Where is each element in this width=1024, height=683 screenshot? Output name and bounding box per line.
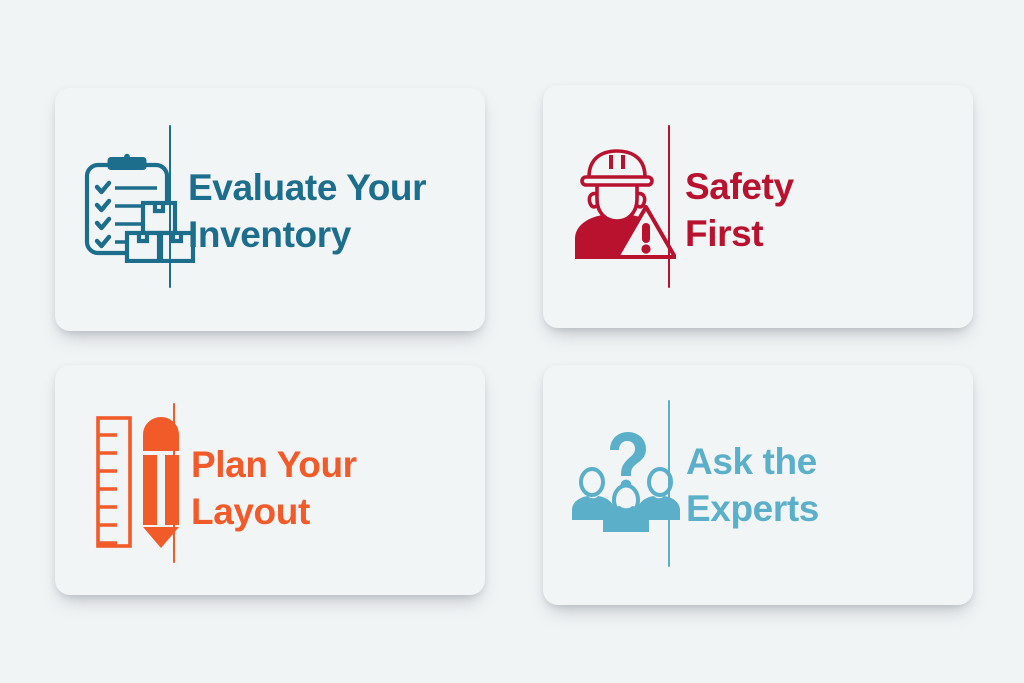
card-divider bbox=[173, 403, 175, 563]
people-question-mark-icon bbox=[553, 417, 698, 547]
card-title: Safety First bbox=[685, 163, 794, 257]
card-title: Plan Your Layout bbox=[191, 441, 357, 535]
card-divider bbox=[169, 125, 171, 288]
card-title: Evaluate Your Inventory bbox=[188, 164, 426, 258]
card-ask-the-experts[interactable]: Ask the Experts bbox=[543, 365, 973, 605]
question-mark-glyph bbox=[610, 432, 646, 490]
card-safety-first[interactable]: Safety First bbox=[543, 85, 973, 328]
card-evaluate-your-inventory[interactable]: Evaluate Your Inventory bbox=[55, 88, 485, 331]
card-plan-your-layout[interactable]: Plan Your Layout bbox=[55, 365, 485, 595]
card-divider bbox=[668, 125, 670, 288]
card-title: Ask the Experts bbox=[686, 438, 819, 532]
worker-hardhat-warning-icon bbox=[553, 133, 693, 273]
ruler-pencil-icon bbox=[73, 405, 208, 560]
card-grid: Evaluate Your Inventory bbox=[0, 0, 1024, 683]
card-divider bbox=[668, 400, 670, 567]
